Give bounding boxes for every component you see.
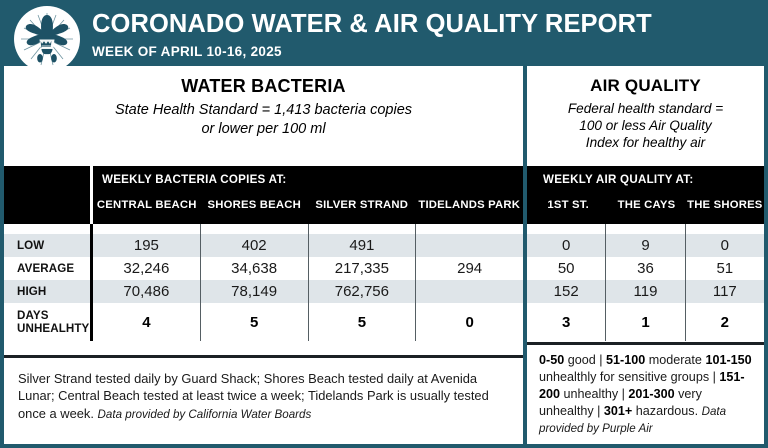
water-row-label-days-unhealthy: DAYS UNHEALHTY bbox=[4, 303, 90, 341]
water-low-silver: 491 bbox=[308, 234, 416, 257]
table-row: AVERAGE 32,246 34,638 217,335 294 bbox=[4, 257, 523, 280]
water-standard-line2: or lower per 100 ml bbox=[201, 121, 325, 137]
table-row: DAYS UNHEALHTY 4 5 5 0 bbox=[4, 303, 523, 341]
water-days-label-line2: UNHEALHTY bbox=[17, 322, 89, 335]
air-standard-line3: Index for healthy air bbox=[586, 135, 705, 150]
water-col-shores-beach: SHORES BEACH bbox=[201, 199, 309, 211]
water-avg-central: 32,246 bbox=[93, 257, 200, 280]
report-header: CORONADO WATER & AIR QUALITY REPORT WEEK… bbox=[4, 4, 764, 66]
air-standard-line1: Federal health standard = bbox=[568, 101, 723, 116]
crowned-turtle-seal-icon bbox=[14, 6, 80, 72]
water-row-label-high: HIGH bbox=[4, 280, 90, 303]
water-avg-shores: 34,638 bbox=[200, 257, 308, 280]
air-table-body: LOW 0 9 0 AVERAGE 50 36 51 bbox=[527, 224, 764, 342]
water-standard-text: State Health Standard = 1,413 bacteria c… bbox=[16, 101, 511, 138]
water-footnote-source: Data provided by California Water Boards bbox=[98, 408, 312, 421]
table-row: LOW 0 9 0 bbox=[527, 234, 764, 257]
air-avg-first-st: 50 bbox=[527, 257, 605, 280]
water-row-label-low: LOW bbox=[4, 234, 90, 257]
air-group-label: WEEKLY AIR QUALITY AT: bbox=[529, 166, 764, 186]
air-high-the-shores: 117 bbox=[685, 280, 764, 303]
water-table-header: WEEKLY BACTERIA COPIES AT: CENTRAL BEACH… bbox=[4, 166, 523, 224]
water-high-silver: 762,756 bbox=[308, 280, 416, 303]
air-high-first-st: 152 bbox=[527, 280, 605, 303]
air-high-the-cays: 119 bbox=[605, 280, 684, 303]
aqi-desc-0-50: good | bbox=[564, 353, 606, 367]
water-high-central: 70,486 bbox=[93, 280, 200, 303]
air-days-the-cays: 1 bbox=[605, 303, 684, 341]
air-column-names: 1ST ST. THE CAYS THE SHORES bbox=[529, 186, 764, 224]
aqi-desc-101-150: unhealthly for sensitive groups | bbox=[539, 370, 719, 384]
page-subtitle: WEEK OF APRIL 10-16, 2025 bbox=[92, 44, 652, 59]
water-header-columns: WEEKLY BACTERIA COPIES AT: CENTRAL BEACH… bbox=[90, 166, 523, 224]
water-days-silver: 5 bbox=[308, 303, 416, 341]
report-poster: CORONADO WATER & AIR QUALITY REPORT WEEK… bbox=[0, 0, 768, 448]
aqi-desc-151-200: unhealthy | bbox=[560, 387, 628, 401]
table-row: LOW 195 402 491 bbox=[4, 234, 523, 257]
aqi-range-101-150: 101-150 bbox=[705, 353, 751, 367]
water-row-spacer bbox=[4, 224, 523, 234]
water-days-central: 4 bbox=[93, 303, 200, 341]
aqi-desc-51-100: moderate bbox=[645, 353, 702, 367]
table-row: HIGH 152 119 117 bbox=[527, 280, 764, 303]
aqi-desc-301-plus: hazardous. bbox=[632, 404, 701, 418]
aqi-range-51-100: 51-100 bbox=[606, 353, 645, 367]
water-col-tidelands-park: TIDELANDS PARK bbox=[416, 199, 524, 211]
water-avg-silver: 217,335 bbox=[308, 257, 416, 280]
air-low-the-cays: 9 bbox=[605, 234, 684, 257]
aqi-range-201-300: 201-300 bbox=[628, 387, 674, 401]
air-days-first-st: 3 bbox=[527, 303, 605, 341]
air-avg-the-shores: 51 bbox=[685, 257, 764, 280]
water-days-tidelands: 0 bbox=[415, 303, 523, 341]
air-days-the-shores: 2 bbox=[685, 303, 764, 341]
air-low-the-shores: 0 bbox=[685, 234, 764, 257]
water-col-silver-strand: SILVER STRAND bbox=[308, 199, 416, 211]
air-header-columns: WEEKLY AIR QUALITY AT: 1ST ST. THE CAYS … bbox=[527, 166, 764, 224]
aqi-range-301-plus: 301+ bbox=[604, 404, 632, 418]
water-standard-block: WATER BACTERIA State Health Standard = 1… bbox=[4, 66, 523, 166]
water-high-tidelands bbox=[415, 280, 523, 303]
water-bacteria-section: WATER BACTERIA State Health Standard = 1… bbox=[4, 66, 523, 444]
air-row-spacer bbox=[527, 224, 764, 234]
water-low-shores: 402 bbox=[200, 234, 308, 257]
water-col-central-beach: CENTRAL BEACH bbox=[93, 199, 201, 211]
logo-container bbox=[4, 4, 88, 66]
table-row: HIGH 70,486 78,149 762,756 bbox=[4, 280, 523, 303]
air-standard-block: AIR QUALITY Federal health standard = 10… bbox=[527, 66, 764, 166]
report-board: WATER BACTERIA State Health Standard = 1… bbox=[4, 66, 764, 444]
air-standard-line2: 100 or less Air Quality bbox=[579, 118, 711, 133]
water-group-label: WEEKLY BACTERIA COPIES AT: bbox=[93, 166, 523, 186]
air-col-the-shores: THE SHORES bbox=[686, 199, 764, 211]
water-days-shores: 5 bbox=[200, 303, 308, 341]
air-quality-scale-legend: 0-50 good | 51-100 moderate 101-150 unhe… bbox=[527, 345, 764, 444]
air-heading: AIR QUALITY bbox=[539, 76, 752, 96]
page-title: CORONADO WATER & AIR QUALITY REPORT bbox=[92, 11, 652, 38]
air-standard-text: Federal health standard = 100 or less Ai… bbox=[539, 100, 752, 151]
aqi-range-0-50: 0-50 bbox=[539, 353, 564, 367]
water-table-body: LOW 195 402 491 AVERAGE 32,246 34,638 21… bbox=[4, 224, 523, 355]
water-days-label-line1: DAYS bbox=[17, 309, 49, 322]
water-standard-line1: State Health Standard = 1,413 bacteria c… bbox=[115, 102, 412, 118]
water-high-shores: 78,149 bbox=[200, 280, 308, 303]
water-column-names: CENTRAL BEACH SHORES BEACH SILVER STRAND… bbox=[93, 186, 523, 224]
water-row-label-average: AVERAGE bbox=[4, 257, 90, 280]
air-col-the-cays: THE CAYS bbox=[607, 199, 685, 211]
table-row: AVERAGE 50 36 51 bbox=[527, 257, 764, 280]
water-heading: WATER BACTERIA bbox=[16, 76, 511, 97]
header-text-block: CORONADO WATER & AIR QUALITY REPORT WEEK… bbox=[88, 11, 652, 58]
water-low-tidelands bbox=[415, 234, 523, 257]
water-header-corner bbox=[4, 166, 90, 224]
air-col-first-st: 1ST ST. bbox=[529, 199, 607, 211]
air-table-header: WEEKLY AIR QUALITY AT: 1ST ST. THE CAYS … bbox=[527, 166, 764, 224]
air-low-first-st: 0 bbox=[527, 234, 605, 257]
air-quality-section: AIR QUALITY Federal health standard = 10… bbox=[523, 66, 764, 444]
water-footnote: Silver Strand tested daily by Guard Shac… bbox=[4, 358, 523, 444]
table-row: DAYS UNHEALHTY 3 1 2 bbox=[527, 303, 764, 341]
water-avg-tidelands: 294 bbox=[415, 257, 523, 280]
air-avg-the-cays: 36 bbox=[605, 257, 684, 280]
water-low-central: 195 bbox=[93, 234, 200, 257]
